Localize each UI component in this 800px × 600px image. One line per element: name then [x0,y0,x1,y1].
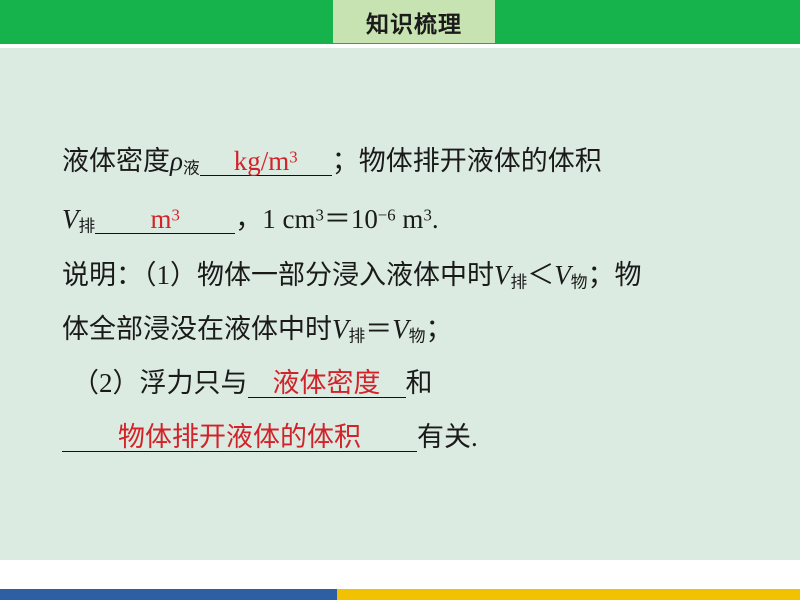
line4-v-wu: V物 [392,314,425,344]
line4-v2-sub: 物 [409,327,426,346]
line3-v2-glyph: V [554,260,571,290]
line3-v1-sub: 排 [511,273,528,292]
line6-text-b: 有关. [417,422,478,452]
line2-formula: 1 cm3＝10−6 m3. [262,204,438,234]
line3-v2-sub: 物 [571,273,588,292]
content-line-2: V排m3，1 cm3＝10−6 m3. [62,206,439,235]
line1-prefix: 液体密度 [62,146,170,176]
formula-eq: ＝10 [324,204,378,234]
rho-glyph: ρ [170,146,183,176]
line3-v1-glyph: V [494,260,511,290]
blank-answer-displaced-volume: 物体排开液体的体积 [62,424,417,452]
line3-v-wu: V物 [554,260,587,290]
content-line-6: 物体排开液体的体积有关. [62,424,478,452]
blank-answer-density-unit: kg/m3 [200,148,332,176]
line1-symbol-rho: ρ液 [170,146,200,176]
line5-text-a: 浮力只与 [140,368,248,398]
rho-subscript: 液 [183,159,200,178]
line1-suffix: ；物体排开液体的体积 [332,146,602,176]
blank-answer-volume-unit-sup: 3 [172,205,180,224]
line4-v-pai: V排 [332,314,365,344]
content-line-4: 体全部浸没在液体中时V排＝V物； [62,316,452,345]
line3-text-a: 物体一部分浸入液体中时 [197,260,494,290]
formula-unit-sup: 3 [423,205,431,224]
line4-v1-sub: 排 [349,327,366,346]
blank-answer-density-unit-text: kg/m [234,146,290,176]
line3-text-b: ；物 [587,260,641,290]
line5-item-no: （2） [72,368,140,398]
line4-text-b: ； [425,314,452,344]
content-line-1: 液体密度ρ液kg/m3；物体排开液体的体积 [62,148,602,177]
line3-v-pai: V排 [494,260,527,290]
formula-pre: 1 cm [262,204,315,234]
slide-content: 液体密度ρ液kg/m3；物体排开液体的体积 V排m3，1 cm3＝10−6 m3… [0,48,800,560]
banner-title: 知识梳理 [366,5,462,39]
formula-pre-sup: 3 [315,205,323,224]
line3-less-than: ＜ [527,260,554,290]
line4-text-a: 体全部浸没在液体中时 [62,314,332,344]
line3-item-no: （1） [143,260,197,290]
footer-bar [0,560,800,600]
content-line-5: （2）浮力只与液体密度和 [72,370,433,398]
blank-answer-liquid-density: 液体密度 [248,370,406,398]
line4-v1-glyph: V [332,314,349,344]
blank-answer-density-unit-sup: 3 [289,147,297,166]
footer-blue-segment [0,589,337,600]
line4-equals: ＝ [365,314,392,344]
line3-label: 说明： [62,260,143,290]
content-line-3: 说明：（1）物体一部分浸入液体中时V排＜V物；物 [62,262,641,291]
v-glyph: V [62,204,79,234]
v-subscript: 排 [79,217,96,236]
top-banner: 知识梳理 [0,0,800,48]
footer-white-strip [0,560,800,589]
line2-comma: ， [235,204,262,234]
formula-exp: −6 [378,205,396,224]
banner-tab: 知识梳理 [333,0,495,43]
line5-text-b: 和 [406,368,433,398]
line4-v2-glyph: V [392,314,409,344]
footer-yellow-segment [337,589,800,600]
line2-symbol-v: V排 [62,204,95,234]
formula-end: . [432,204,439,234]
blank-answer-volume-unit: m3 [95,206,235,234]
blank-answer-volume-unit-text: m [151,204,172,234]
formula-unit: m [396,204,424,234]
